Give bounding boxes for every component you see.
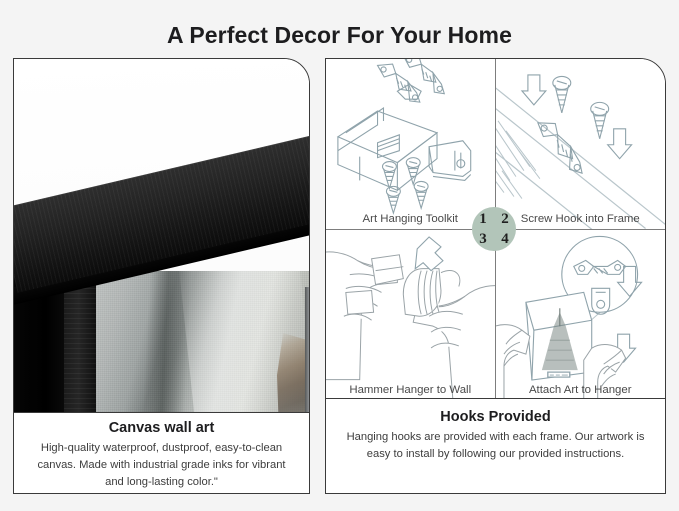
badge-number-2: 2 [494,208,516,230]
hooks-caption-box: Hooks Provided Hanging hooks are provide… [326,398,665,493]
step-2-cell: Screw Hook into Frame [496,59,666,230]
canvas-caption-body: High-quality waterproof, dustproof, easy… [28,440,295,491]
canvas-caption-box: Canvas wall art High-quality waterproof,… [14,412,309,493]
step-3-cell: Hammer Hanger to Wall [326,230,496,401]
canvas-artwork-surface [92,271,309,414]
step-1-label: Art Hanging Toolkit [326,213,495,225]
step-1-cell: Art Hanging Toolkit [326,59,496,230]
page-title: A Perfect Decor For Your Home [0,22,679,49]
product-infographic: A Perfect Decor For Your Home Canvas wal… [0,0,679,511]
step-number-badge: 1 2 3 4 [472,207,516,251]
canvas-wall-art-panel: Canvas wall art High-quality waterproof,… [13,58,310,494]
hooks-caption-title: Hooks Provided [342,409,649,425]
badge-number-3: 3 [472,228,494,250]
badge-number-1: 1 [472,208,494,230]
toolkit-box-brackets-screws-illustration [326,59,495,229]
hands-holding-framed-art-magnifier-illustration [496,230,666,401]
frame-right-edge-sliver [305,287,309,414]
canvas-caption-title: Canvas wall art [28,420,295,436]
step-2-label: Screw Hook into Frame [496,213,666,225]
step-4-cell: Attach Art to Hanger [496,230,666,401]
step-3-label: Hammer Hanger to Wall [326,384,495,396]
hooks-provided-panel: Art Hanging Toolkit [325,58,666,494]
badge-number-4: 4 [494,228,516,250]
frame-closeup-photo [14,59,309,414]
step-4-label: Attach Art to Hanger [496,384,666,396]
frame-edge-bracket-screws-arrows-illustration [496,59,666,229]
hands-hammer-hanger-arrow-illustration [326,230,495,401]
hooks-caption-body: Hanging hooks are provided with each fra… [342,429,649,463]
canvas-glass-sheen [92,271,309,414]
